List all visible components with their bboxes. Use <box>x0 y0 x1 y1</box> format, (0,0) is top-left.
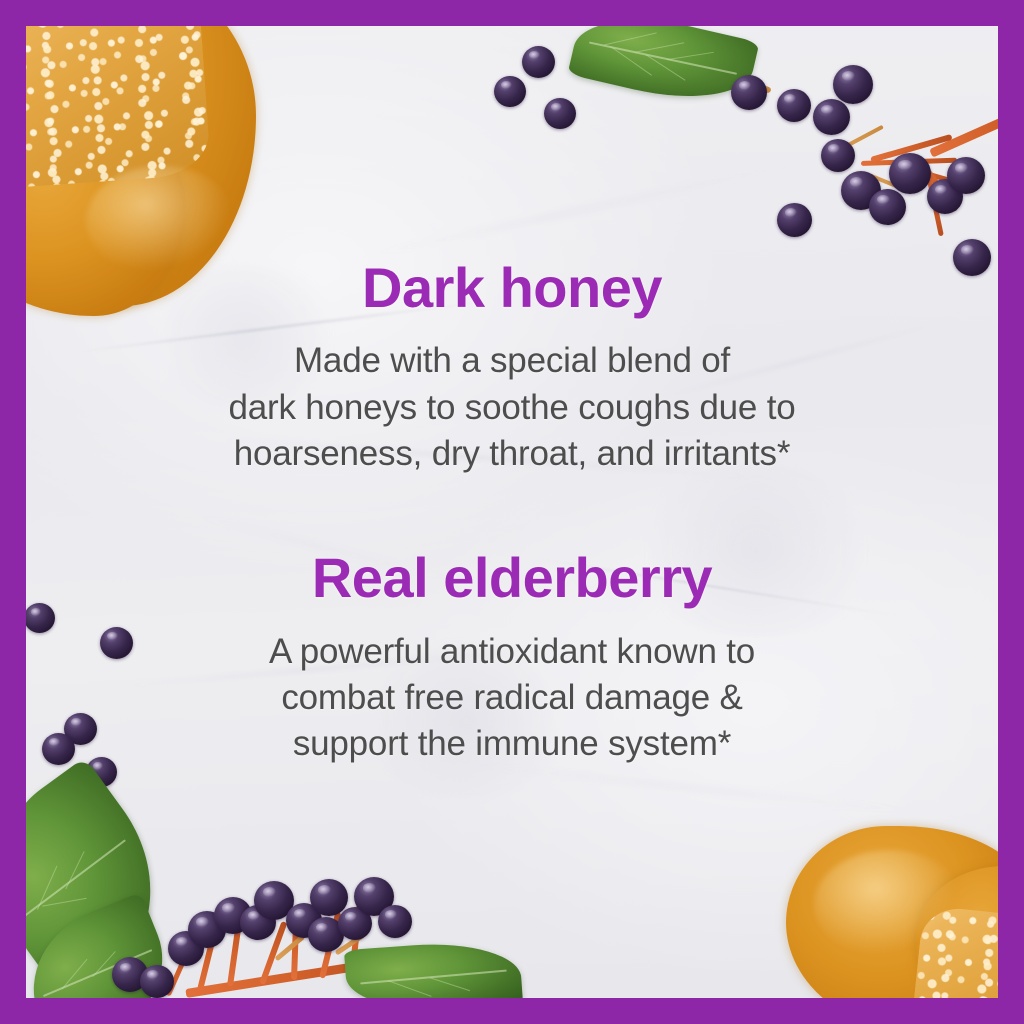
benefit-block-real-elderberry: Real elderberry A powerful antioxidant k… <box>72 547 952 767</box>
benefit-description-line: Made with a special blend of <box>72 338 952 384</box>
benefit-block-dark-honey: Dark honey Made with a special blend of … <box>72 257 952 477</box>
product-benefits-panel: Dark honey Made with a special blend of … <box>0 0 1024 1024</box>
frame-bottom <box>0 998 1024 1024</box>
frame-left <box>0 0 26 1024</box>
frame-right <box>998 0 1024 1024</box>
benefit-heading: Real elderberry <box>72 547 952 609</box>
benefit-description: A powerful antioxidant known to combat f… <box>72 629 952 768</box>
benefit-description-line: dark honeys to soothe coughs due to <box>72 385 952 431</box>
frame-top <box>0 0 1024 26</box>
benefit-description-line: support the immune system* <box>72 721 952 767</box>
benefit-description-line: combat free radical damage & <box>72 675 952 721</box>
benefit-heading: Dark honey <box>72 257 952 319</box>
benefit-description-line: A powerful antioxidant known to <box>72 629 952 675</box>
benefit-description-line: hoarseness, dry throat, and irritants* <box>72 431 952 477</box>
benefit-description: Made with a special blend of dark honeys… <box>72 338 952 477</box>
benefits-content: Dark honey Made with a special blend of … <box>26 26 998 998</box>
